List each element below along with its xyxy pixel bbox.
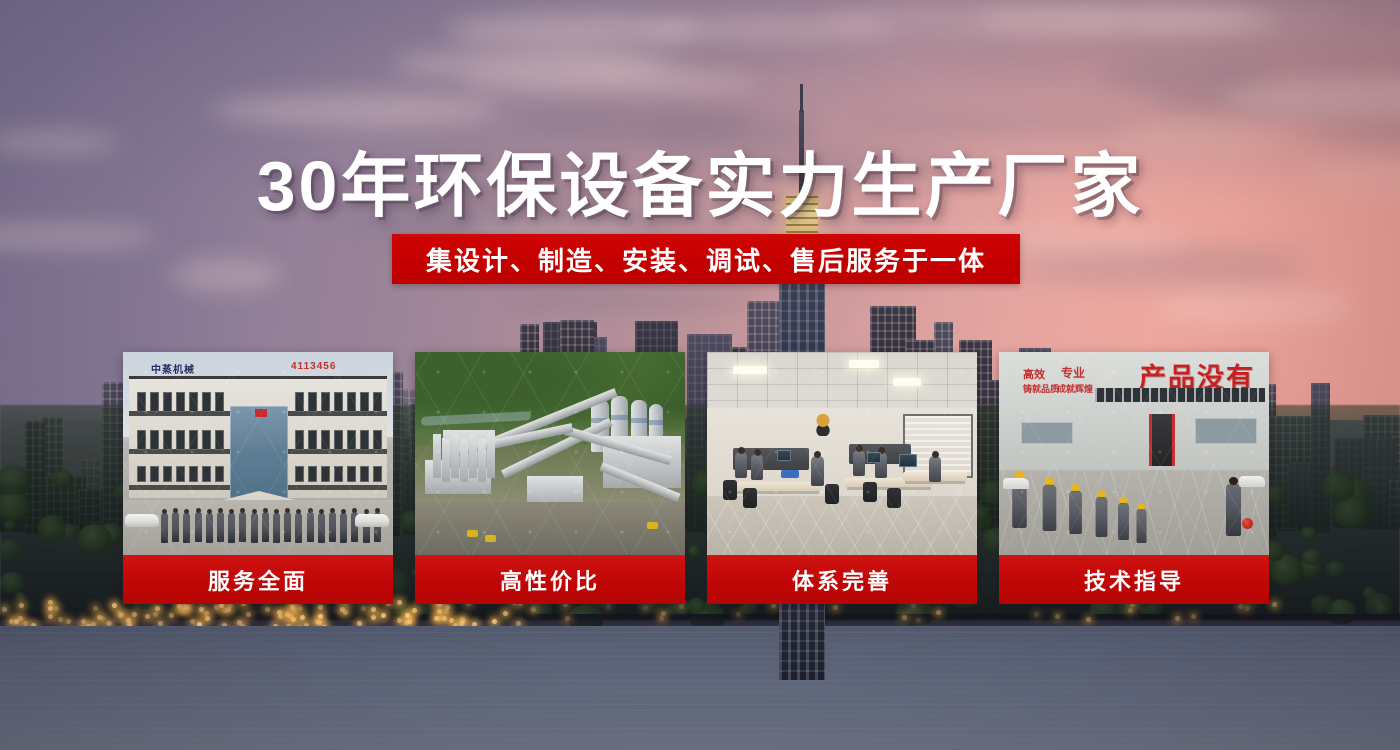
photo-scene <box>707 352 977 555</box>
photo-scene: 产品没有 专业 高效 铸就品质 成就辉煌 <box>999 352 1269 555</box>
red-helmet-icon <box>1242 518 1253 529</box>
card-photo-plant <box>415 352 685 555</box>
card-caption: 高性价比 <box>415 555 685 604</box>
subtitle-bar: 集设计、制造、安装、调试、售后服务于一体 <box>392 234 1020 284</box>
photo-scene <box>415 352 685 555</box>
promo-banner: 30年环保设备实力生产厂家 集设计、制造、安装、调试、售后服务于一体 <box>0 0 1400 750</box>
feature-card-list: 中蒸机械 4113456 服务全面 <box>123 352 1279 604</box>
feature-card[interactable]: 产品没有 专业 高效 铸就品质 成就辉煌 <box>999 352 1269 604</box>
card-caption: 技术指导 <box>999 555 1269 604</box>
plant-yard <box>415 502 685 555</box>
factory-slogan-text: 铸就品质 <box>1023 382 1059 395</box>
card-caption: 服务全面 <box>123 555 393 604</box>
subtitle-text: 集设计、制造、安装、调试、售后服务于一体 <box>426 241 986 278</box>
card-photo-office <box>707 352 977 555</box>
factory-slogan-text: 专业 <box>1061 364 1085 381</box>
card-photo-headquarters: 中蒸机械 4113456 <box>123 352 393 555</box>
wall-logo-icon <box>809 410 837 436</box>
card-photo-workers: 产品没有 专业 高效 铸就品质 成就辉煌 <box>999 352 1269 555</box>
factory-slogan-text: 高效 <box>1023 366 1045 382</box>
building-sign-text: 中蒸机械 <box>151 361 195 376</box>
office-ceiling <box>707 352 977 408</box>
page-title: 30年环保设备实力生产厂家 <box>0 130 1400 231</box>
feature-card[interactable]: 中蒸机械 4113456 服务全面 <box>123 352 393 604</box>
photo-scene: 中蒸机械 4113456 <box>123 352 393 555</box>
feature-card[interactable]: 高性价比 <box>415 352 685 604</box>
feature-card[interactable]: 体系完善 <box>707 352 977 604</box>
factory-door <box>1149 414 1175 466</box>
building-phone-text: 4113456 <box>291 361 336 372</box>
factory-slogan-text: 成就辉煌 <box>1057 382 1093 395</box>
card-caption: 体系完善 <box>707 555 977 604</box>
flag <box>255 409 267 417</box>
river-water <box>0 626 1400 750</box>
factory-clerestory <box>1095 388 1265 402</box>
